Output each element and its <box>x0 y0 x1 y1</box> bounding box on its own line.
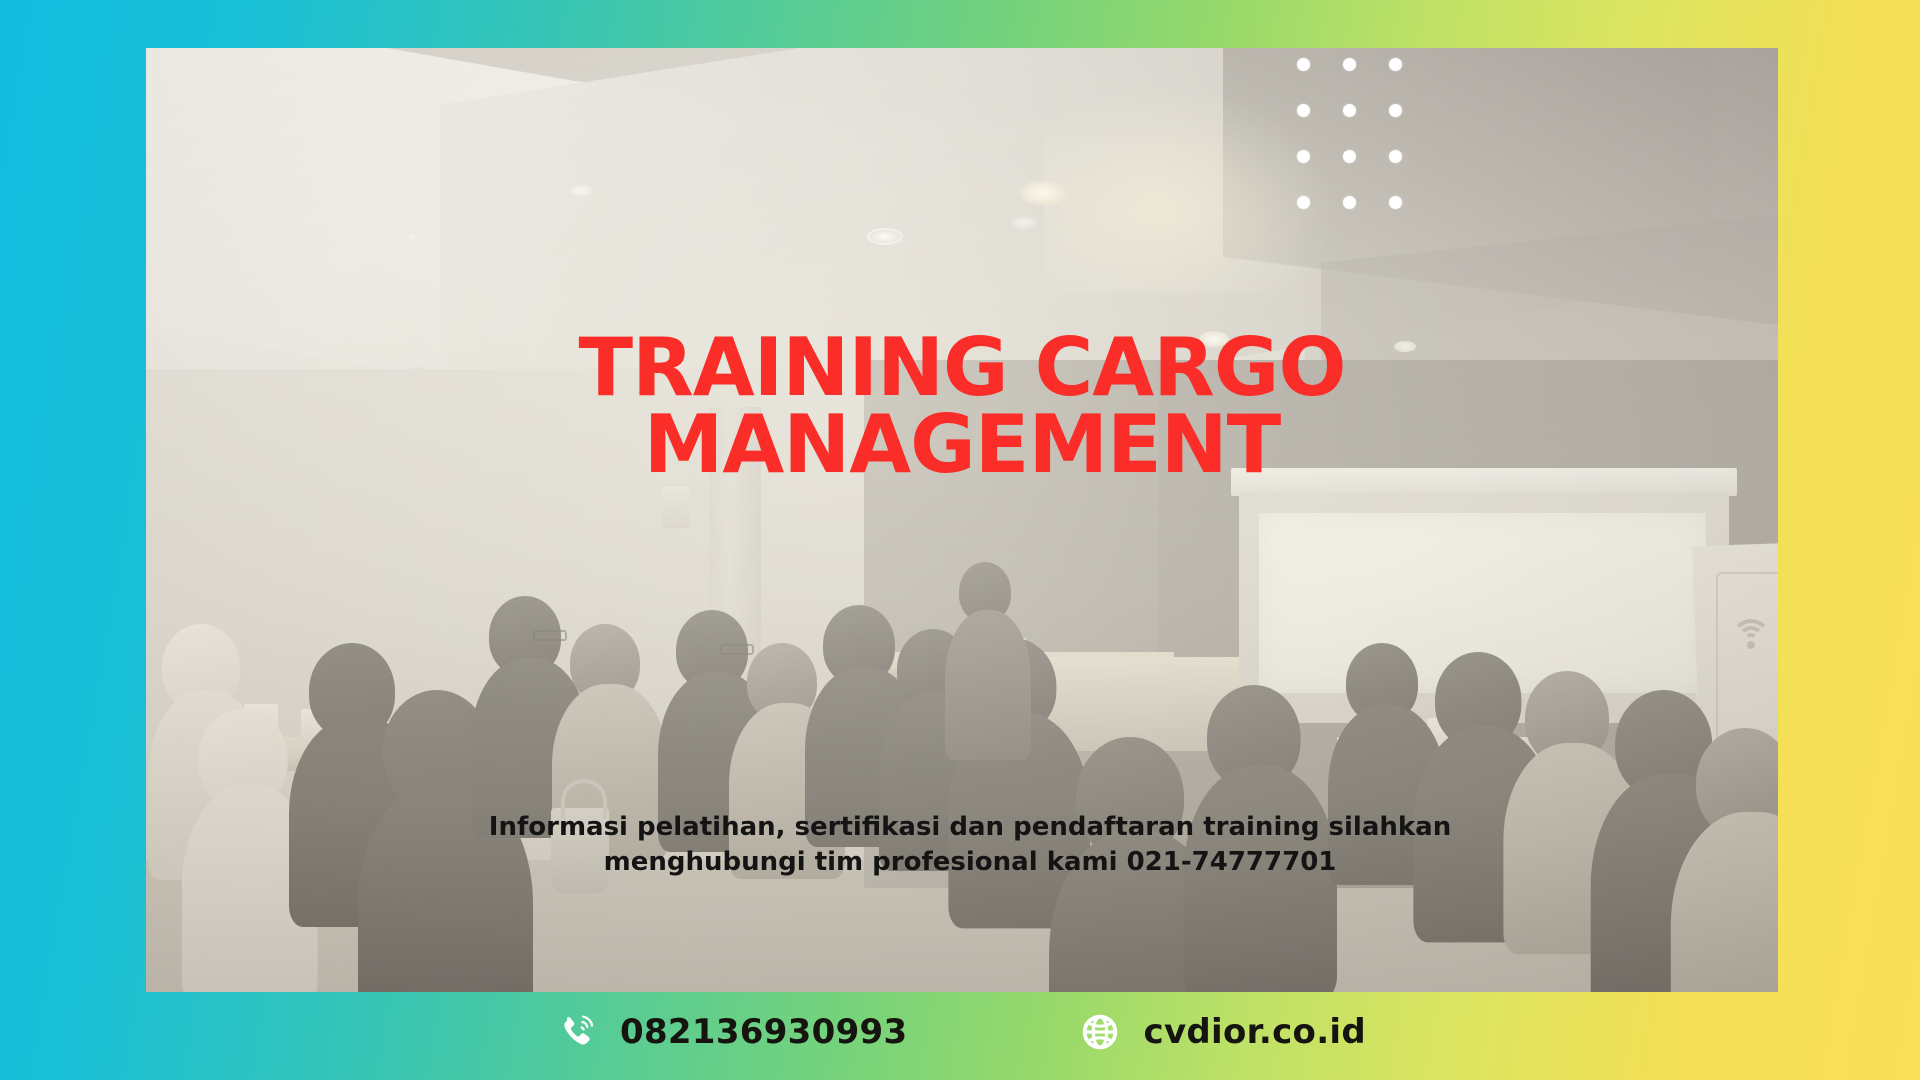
contact-phone[interactable]: 082136930993 <box>554 1009 908 1055</box>
grid-dot <box>1297 150 1310 163</box>
website-label: cvdior.co.id <box>1143 1012 1366 1052</box>
info-line-1: Informasi pelatihan, sertifikasi dan pen… <box>489 812 1451 842</box>
phone-ringing-icon <box>554 1009 600 1055</box>
grid-dot <box>1343 150 1356 163</box>
grid-dot <box>1389 196 1402 209</box>
contact-bar: 082136930993 cvdior.co.id <box>0 1000 1920 1064</box>
grid-dot <box>1297 196 1310 209</box>
grid-dot <box>1297 104 1310 117</box>
poster-canvas: TRAINING CARGO MANAGEMENT Informasi pela… <box>0 0 1920 1080</box>
globe-icon <box>1077 1009 1123 1055</box>
info-paragraph: Informasi pelatihan, sertifikasi dan pen… <box>380 810 1560 880</box>
headline-line-2: MANAGEMENT <box>146 407 1778 484</box>
grid-dot <box>1343 58 1356 71</box>
phone-number-label: 082136930993 <box>620 1012 908 1052</box>
grid-dot <box>1389 58 1402 71</box>
info-line-2: menghubungi tim profesional kami 021-747… <box>604 847 1337 877</box>
grid-dot <box>1297 58 1310 71</box>
dot-grid-decoration <box>1297 58 1435 242</box>
contact-website[interactable]: cvdior.co.id <box>1077 1009 1366 1055</box>
grid-dot <box>1343 196 1356 209</box>
grid-dot <box>1343 104 1356 117</box>
grid-dot <box>1389 104 1402 117</box>
grid-dot <box>1389 150 1402 163</box>
page-title: TRAINING CARGO MANAGEMENT <box>146 330 1778 484</box>
